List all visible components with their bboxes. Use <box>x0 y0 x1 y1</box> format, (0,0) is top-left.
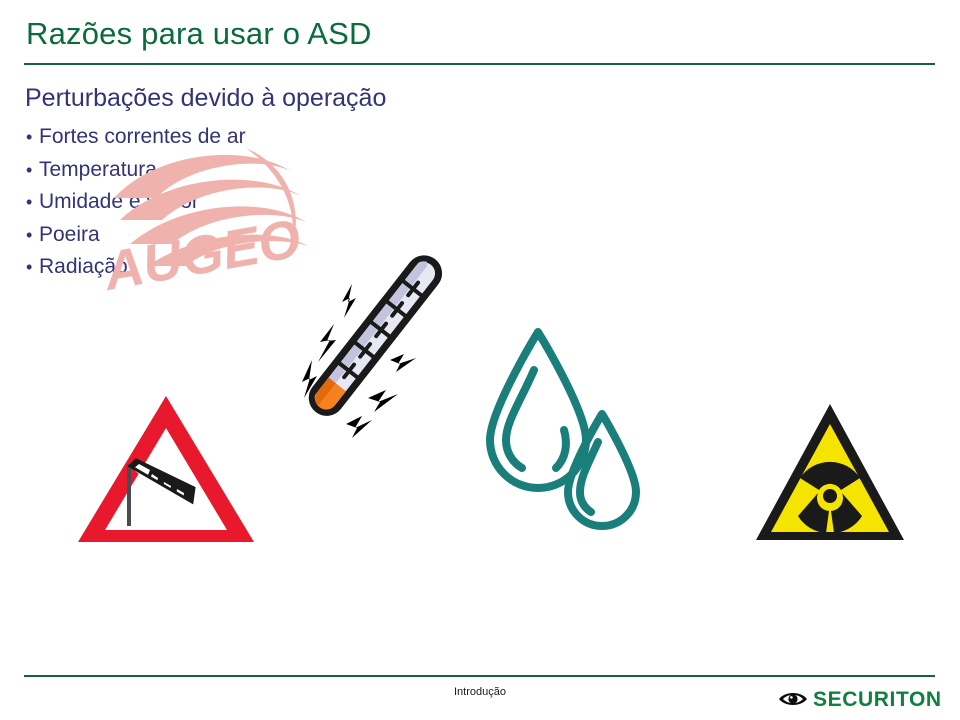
list-item: •Temperatura <box>26 154 246 187</box>
radiation-warning-sign-image <box>752 400 908 546</box>
list-item: •Fortes correntes de ar <box>26 121 246 154</box>
bullet-list: •Fortes correntes de ar •Temperatura •Um… <box>26 121 246 284</box>
presentation-slide: Razões para usar o ASD Perturbações devi… <box>0 0 960 720</box>
water-droplets-image <box>476 322 651 538</box>
list-item: •Poeira <box>26 219 246 252</box>
list-item: •Umidade e vapor <box>26 186 246 219</box>
footer-divider <box>24 675 935 677</box>
bullet-glyph: • <box>26 252 39 284</box>
thermometer-image <box>290 232 442 460</box>
list-item-label: Fortes correntes de ar <box>39 125 246 148</box>
section-subtitle: Perturbações devido à operação <box>25 84 386 113</box>
bullet-glyph: • <box>26 187 39 219</box>
list-item-label: Radiação <box>39 255 128 278</box>
securiton-wordmark: SECURITON <box>813 689 942 710</box>
list-item-label: Umidade e vapor <box>39 190 199 213</box>
list-item-label: Poeira <box>39 223 100 246</box>
bullet-glyph: • <box>26 155 39 187</box>
bullet-glyph: • <box>26 220 39 252</box>
bullet-glyph: • <box>26 122 39 154</box>
securiton-logo: SECURITON <box>778 686 938 712</box>
list-item: •Radiação <box>26 251 246 284</box>
page-title: Razões para usar o ASD <box>26 16 372 52</box>
list-item-label: Temperatura <box>39 158 157 181</box>
wind-warning-sign-image <box>76 392 256 547</box>
eye-icon <box>778 690 808 708</box>
title-divider <box>24 63 935 65</box>
